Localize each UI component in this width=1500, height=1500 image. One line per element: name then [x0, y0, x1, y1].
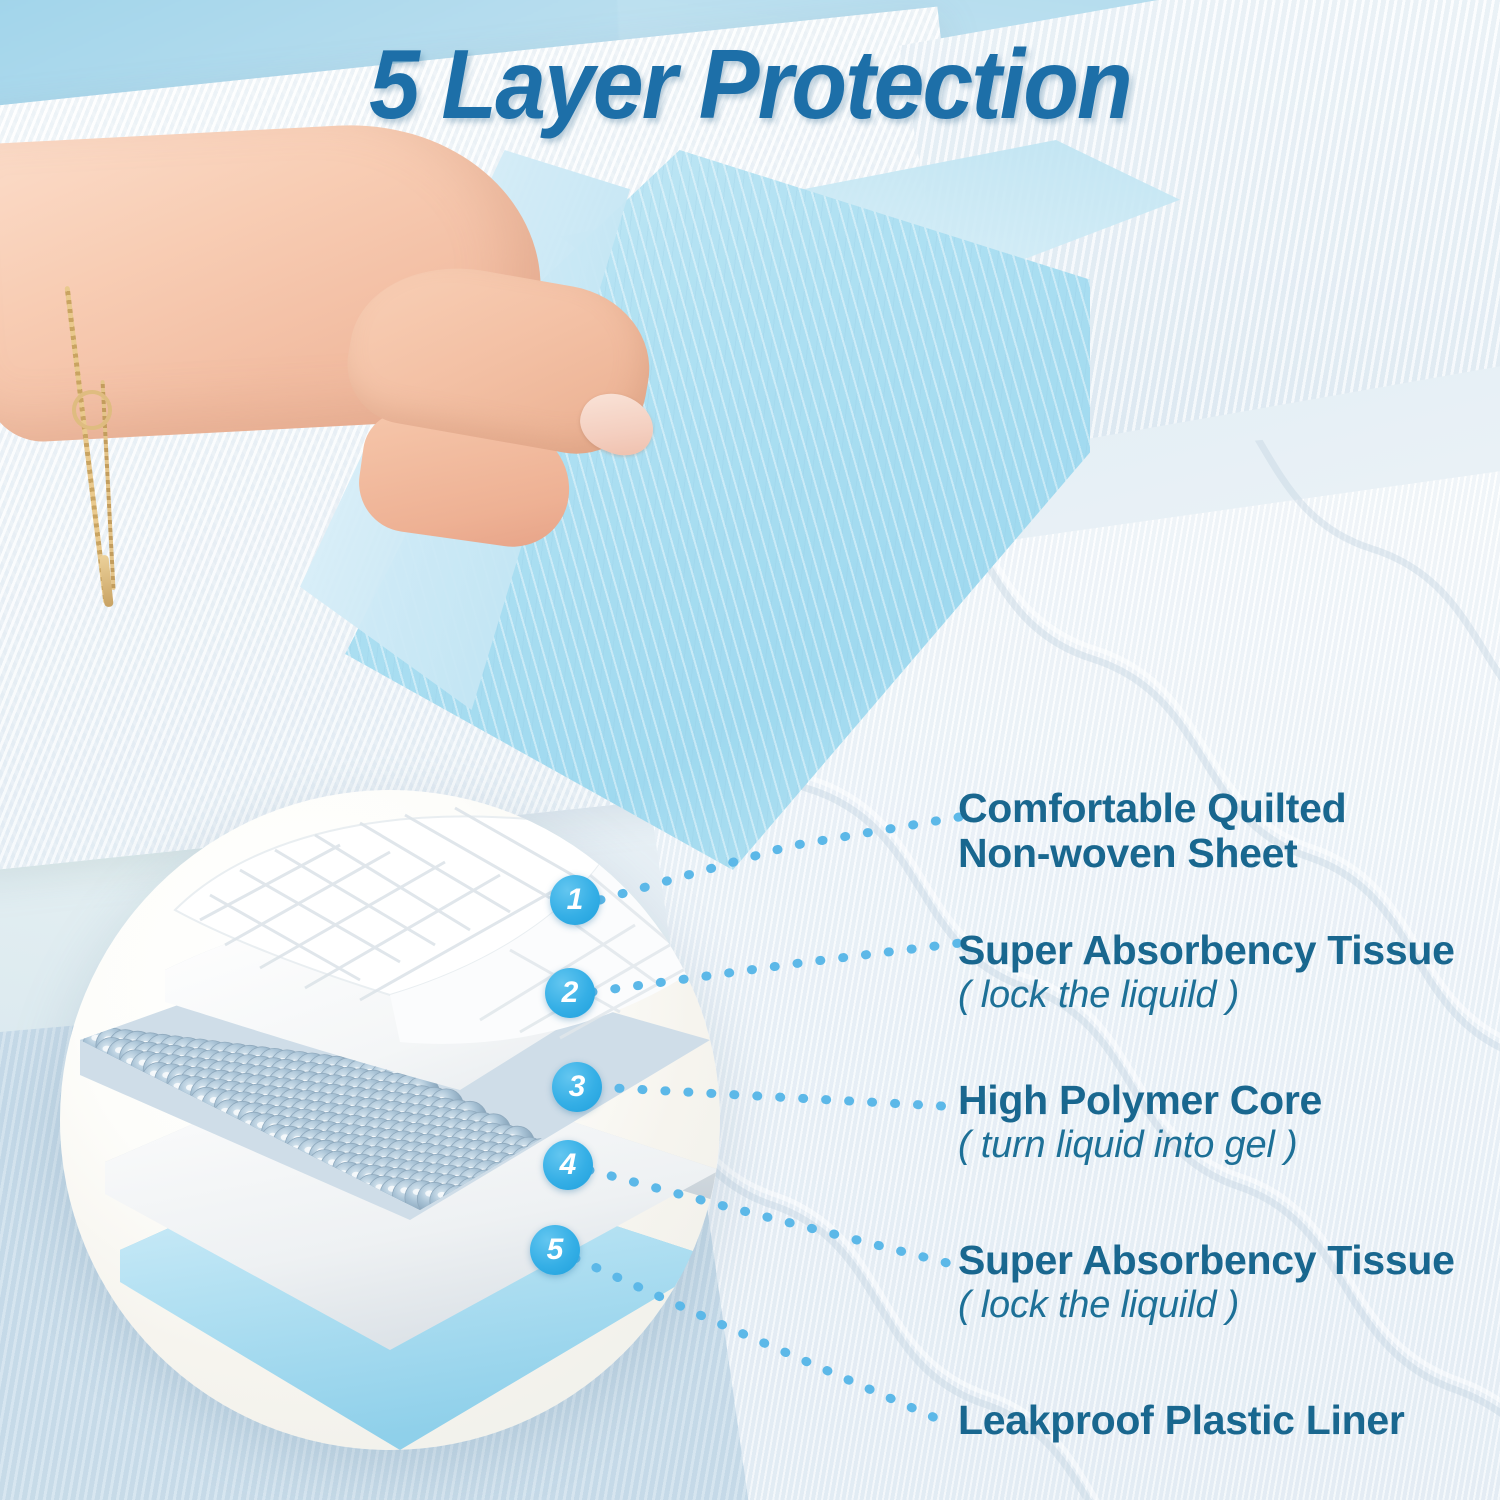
leader-line-1 [600, 816, 965, 900]
layer-label-1: Comfortable Quilted Non-woven Sheet [958, 786, 1378, 876]
leader-line-3 [596, 1087, 960, 1107]
layer-label-2-title: Super Absorbency Tissue [958, 928, 1455, 973]
layer-label-4-title: Super Absorbency Tissue [958, 1238, 1455, 1283]
infographic-canvas: 1 2 3 4 5 5 Layer Protection Comfortable… [0, 0, 1500, 1500]
layer-badge-1: 1 [550, 875, 600, 925]
layer-label-5-title: Leakproof Plastic Liner [958, 1398, 1405, 1443]
layer-label-4-subtitle: ( lock the liquild ) [958, 1283, 1455, 1328]
layer-label-3-title: High Polymer Core [958, 1078, 1322, 1123]
leader-line-2 [592, 942, 968, 992]
leader-line-4 [589, 1170, 955, 1265]
layer-label-3-subtitle: ( turn liquid into gel ) [958, 1123, 1322, 1168]
layer-badge-4: 4 [543, 1140, 593, 1190]
layer-label-list: Comfortable Quilted Non-woven Sheet Supe… [958, 0, 1500, 1500]
page-title: 5 Layer Protection [53, 28, 1448, 141]
layer-label-4: Super Absorbency Tissue ( lock the liqui… [958, 1238, 1455, 1328]
leader-line-5 [575, 1258, 940, 1420]
layer-badge-5: 5 [530, 1225, 580, 1275]
layer-label-5: Leakproof Plastic Liner [958, 1398, 1405, 1443]
layer-badge-2: 2 [545, 968, 595, 1018]
layer-label-2: Super Absorbency Tissue ( lock the liqui… [958, 928, 1455, 1018]
layer-label-1-title: Comfortable Quilted Non-woven Sheet [958, 786, 1378, 876]
layer-label-2-subtitle: ( lock the liquild ) [958, 973, 1455, 1018]
layer-label-3: High Polymer Core ( turn liquid into gel… [958, 1078, 1322, 1168]
layer-badge-3: 3 [552, 1062, 602, 1112]
